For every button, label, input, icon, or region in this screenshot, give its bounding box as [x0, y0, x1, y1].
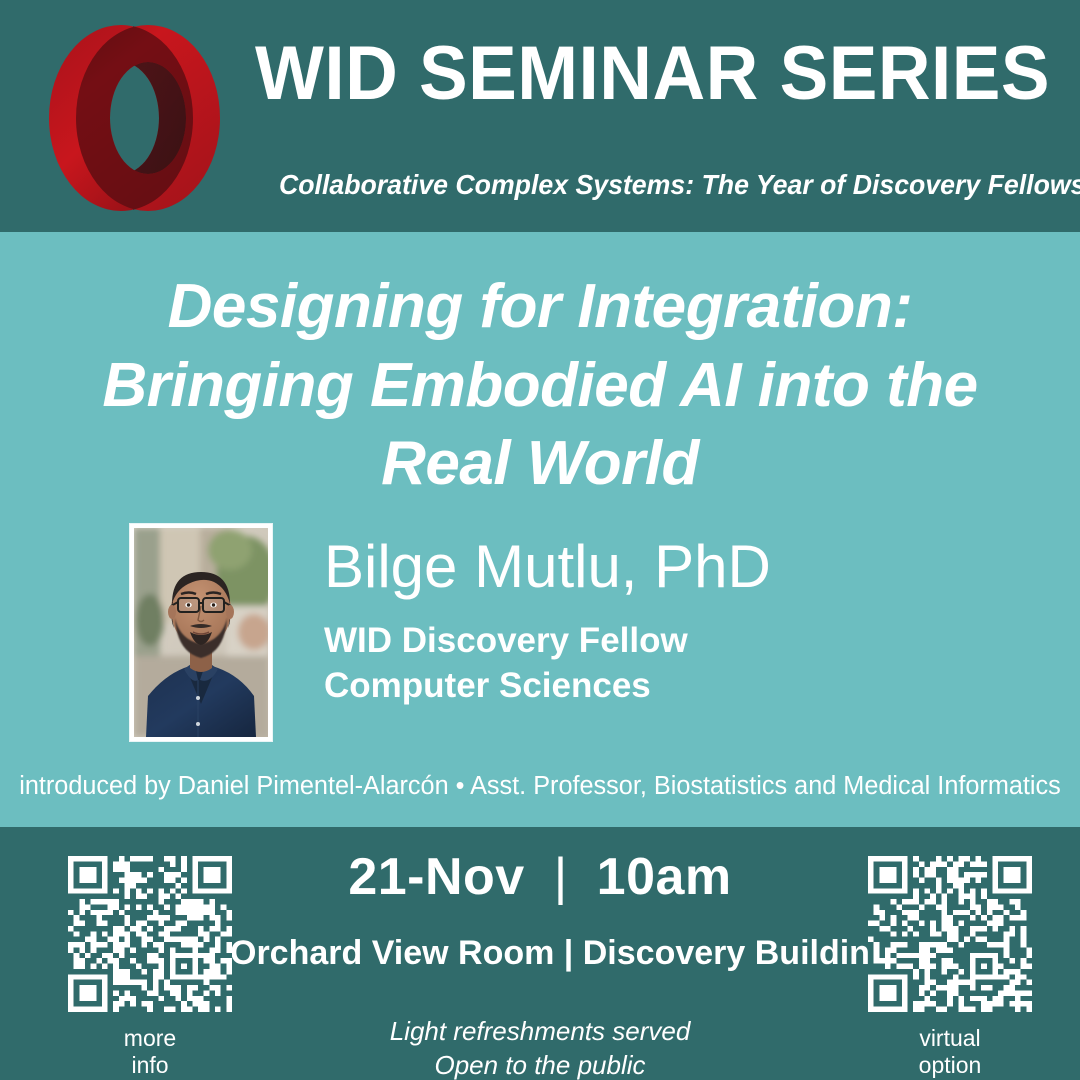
talk-title-line-2: Bringing Embodied AI into the — [40, 347, 1040, 426]
event-notes: Light refreshments served Open to the pu… — [250, 1014, 830, 1080]
event-datetime: 21-Nov | 10am — [250, 847, 830, 907]
qr-more-info-block[interactable]: more info — [68, 856, 232, 1079]
introducer-line: introduced by Daniel Pimentel-Alarcón • … — [5, 772, 1074, 801]
talk-title-line-1: Designing for Integration: — [40, 268, 1040, 347]
event-date: 21-Nov — [348, 848, 524, 906]
event-datetime-separator: | — [540, 848, 582, 906]
qr-virtual-option-caption: virtual option — [868, 1025, 1032, 1079]
poster-header-subtitle: Collaborative Complex Systems: The Year … — [279, 170, 1055, 200]
event-time: 10am — [597, 848, 732, 906]
qr-virtual-option-code[interactable] — [868, 856, 1032, 1012]
qr-more-info-code[interactable] — [68, 856, 232, 1012]
speaker-affiliation-line-2: Computer Sciences — [324, 664, 688, 709]
qr-more-info-caption-line-2: info — [68, 1052, 232, 1079]
speaker-affiliation: WID Discovery Fellow Computer Sciences — [324, 619, 688, 709]
wid-logo-icon — [28, 18, 238, 218]
poster-header-title: WID SEMINAR SERIES — [255, 36, 1013, 112]
seminar-poster: WID SEMINAR SERIES Collaborative Complex… — [0, 0, 1080, 1080]
event-note-line-1: Light refreshments served — [250, 1014, 830, 1048]
speaker-affiliation-line-1: WID Discovery Fellow — [324, 619, 688, 664]
speaker-portrait-photo — [130, 524, 272, 741]
talk-title: Designing for Integration: Bringing Embo… — [40, 268, 1040, 504]
event-location: Orchard View Room | Discovery Building — [230, 934, 850, 973]
talk-title-line-3: Real World — [40, 425, 1040, 504]
speaker-name: Bilge Mutlu, PhD — [324, 537, 771, 597]
qr-virtual-option-caption-line-1: virtual — [868, 1025, 1032, 1052]
event-note-line-2: Open to the public — [250, 1048, 830, 1080]
qr-more-info-caption: more info — [68, 1025, 232, 1079]
qr-virtual-option-block[interactable]: virtual option — [868, 856, 1032, 1079]
qr-virtual-option-caption-line-2: option — [868, 1052, 1032, 1079]
qr-more-info-caption-line-1: more — [68, 1025, 232, 1052]
